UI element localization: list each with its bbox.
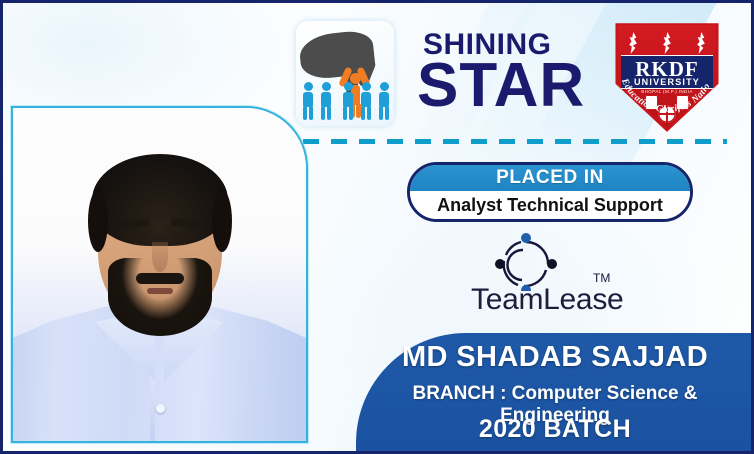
title-star: STAR bbox=[417, 55, 585, 117]
placed-in-role: Analyst Technical Support bbox=[410, 191, 690, 219]
hand-picking-person-icon bbox=[296, 21, 394, 126]
flame-icon-3 bbox=[695, 32, 707, 54]
nose bbox=[152, 242, 168, 272]
flame-icon-1 bbox=[627, 32, 639, 54]
candidate-details-banner: MD SHADAB SAJJAD BRANCH : Computer Scien… bbox=[356, 333, 754, 454]
dashed-divider bbox=[303, 139, 727, 144]
eye-left bbox=[123, 232, 145, 241]
flame-icons bbox=[627, 32, 707, 54]
moustache bbox=[136, 273, 184, 284]
candidate-name: MD SHADAB SAJJAD bbox=[356, 341, 754, 374]
candidate-batch: 2020 BATCH bbox=[356, 415, 754, 444]
hair bbox=[92, 154, 228, 246]
company-name: TeamLease bbox=[471, 283, 623, 317]
eye-right bbox=[175, 232, 197, 241]
shirt-button bbox=[156, 404, 165, 413]
university-word: UNIVERSITY bbox=[621, 77, 713, 87]
rkdf-university-logo: RKDF UNIVERSITY BHOPAL (M.P.) INDIA Educ… bbox=[611, 21, 723, 133]
candidate-portrait bbox=[13, 108, 306, 441]
candidate-photo-frame bbox=[11, 106, 308, 443]
crowd-people-row bbox=[301, 80, 389, 120]
placed-in-heading: PLACED IN bbox=[410, 165, 690, 191]
teamlease-logo: TM TeamLease bbox=[471, 231, 631, 317]
globe-icon bbox=[658, 105, 676, 123]
shining-star-placement-poster: SHINING STAR RKDF UNIVERSITY BHOPAL (M.P… bbox=[0, 0, 754, 454]
placed-in-badge: PLACED IN Analyst Technical Support bbox=[407, 162, 693, 222]
university-name-band: RKDF UNIVERSITY bbox=[621, 55, 713, 89]
university-subtitle: BHOPAL (M.P.) INDIA bbox=[611, 89, 723, 94]
flame-icon-2 bbox=[661, 32, 673, 54]
lips bbox=[147, 288, 173, 294]
teamlease-circle-icon bbox=[493, 231, 559, 291]
